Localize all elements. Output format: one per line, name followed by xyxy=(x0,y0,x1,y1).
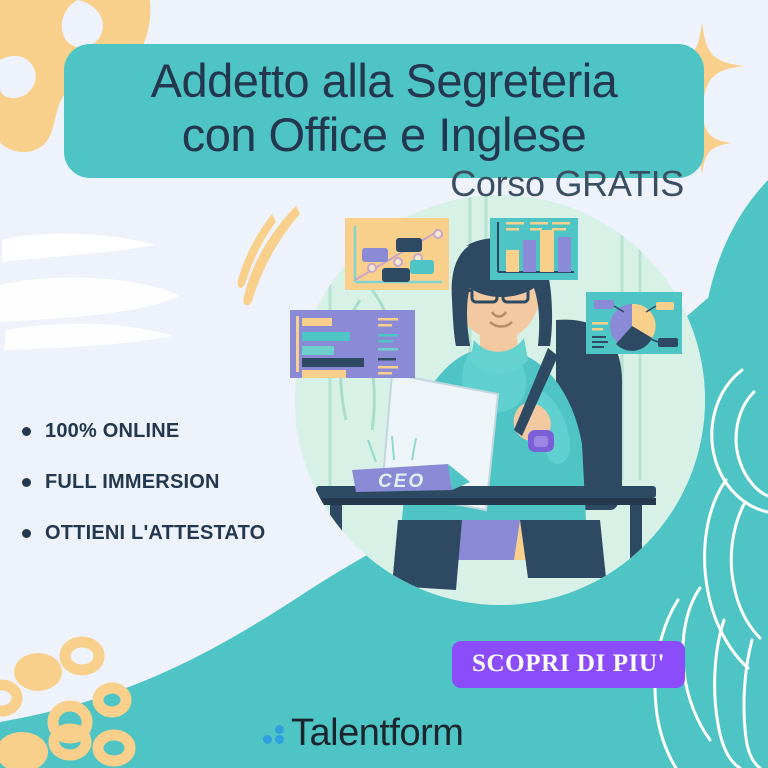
list-item: 100% ONLINE xyxy=(22,420,352,443)
brand-logo: Talentform xyxy=(262,714,463,752)
list-item-label: OTTIENI L'ATTESTATO xyxy=(45,522,265,545)
bar xyxy=(558,237,571,272)
svg-text:CEO: CEO xyxy=(378,471,425,492)
list-item-label: FULL IMMERSION xyxy=(45,471,220,494)
flow-node xyxy=(410,260,434,274)
bullet-dot-icon xyxy=(22,427,31,436)
flowchart-panel xyxy=(345,218,449,290)
pie-callout xyxy=(658,338,678,347)
bullet-dot-icon xyxy=(22,478,31,487)
pie-chart-panel xyxy=(586,292,682,354)
bullet-dot-icon xyxy=(22,529,31,538)
cta-button[interactable]: SCOPRI DI PIU' xyxy=(452,641,685,688)
title-line-2: con Office e Inglese xyxy=(82,108,686,162)
flow-node xyxy=(382,268,410,282)
flow-node xyxy=(396,238,422,252)
subtitle: Corso GRATIS xyxy=(450,164,684,204)
list-item: OTTIENI L'ATTESTATO xyxy=(22,522,352,545)
logo-text: Talentform xyxy=(291,714,463,752)
bar xyxy=(540,230,554,272)
poster-canvas: CEO xyxy=(0,0,768,768)
bar xyxy=(506,250,519,272)
feature-list: 100% ONLINE FULL IMMERSION OTTIENI L'ATT… xyxy=(22,420,352,573)
title-card: Addetto alla Segreteria con Office e Ing… xyxy=(64,44,704,178)
code-editor-panel xyxy=(290,310,415,378)
pie-callout xyxy=(594,300,614,309)
flow-node xyxy=(362,248,388,262)
bar-chart-panel xyxy=(490,218,578,280)
list-item: FULL IMMERSION xyxy=(22,471,352,494)
bar xyxy=(523,240,536,272)
logo-dots-icon xyxy=(262,720,288,746)
pie-callout xyxy=(656,302,674,310)
title-line-1: Addetto alla Segreteria xyxy=(82,54,686,108)
list-item-label: 100% ONLINE xyxy=(45,420,179,443)
